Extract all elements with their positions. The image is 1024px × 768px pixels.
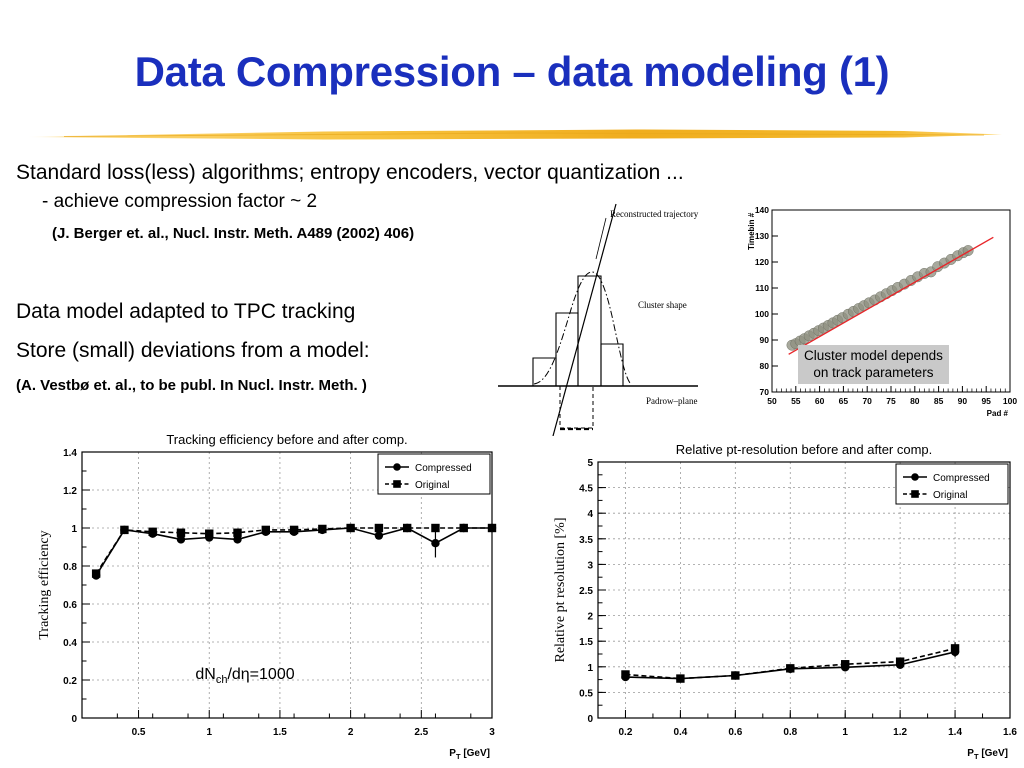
tracking-efficiency-legend: CompressedOriginal	[378, 454, 490, 494]
text-store-deviations: Store (small) deviations from a model:	[16, 339, 370, 363]
x-tick-label: 0.6	[728, 727, 742, 738]
tracking-efficiency-chart: Tracking efficiency before and after com…	[20, 424, 500, 768]
padtime-x-tick-label: 70	[862, 396, 872, 406]
x-tick-label: 2.5	[414, 727, 428, 738]
data-point	[177, 529, 185, 537]
x-tick-label: 0.2	[619, 727, 633, 738]
data-point	[233, 529, 241, 537]
data-point	[346, 524, 354, 532]
data-point	[460, 524, 468, 532]
data-point	[731, 671, 739, 679]
legend-label: Compressed	[933, 473, 990, 484]
data-point	[841, 660, 849, 668]
padtime-x-tick-label: 90	[958, 396, 968, 406]
y-tick-label: 1.5	[579, 637, 593, 648]
data-point	[318, 525, 326, 533]
data-point	[92, 569, 100, 577]
padtime-y-tick-label: 140	[755, 205, 769, 215]
callout-cluster-model: Cluster model depends on track parameter…	[798, 345, 949, 384]
tracking-efficiency-y-axis-title: Tracking efficiency	[37, 530, 52, 639]
pt-resolution-title: Relative pt-resolution before and after …	[676, 442, 933, 457]
cluster-shape-diagram: Reconstructed trajectory Cluster shape P…	[498, 196, 760, 436]
label-reconstructed-trajectory: Reconstructed trajectory	[610, 209, 699, 219]
data-point	[375, 531, 383, 539]
tracking-efficiency-title: Tracking efficiency before and after com…	[166, 432, 407, 447]
padtime-x-axis-title: Pad #	[987, 409, 1009, 418]
data-point	[676, 674, 684, 682]
label-cluster-shape: Cluster shape	[638, 300, 687, 310]
y-tick-label: 0.6	[63, 600, 77, 611]
callout-line-1: Cluster model depends	[804, 347, 943, 364]
y-tick-label: 3.5	[579, 535, 593, 546]
x-tick-label: 0.4	[673, 727, 687, 738]
padtime-y-tick-label: 130	[755, 231, 769, 241]
y-tick-label: 0	[71, 714, 77, 725]
legend-label: Compressed	[415, 463, 472, 474]
data-point	[786, 664, 794, 672]
data-point	[205, 530, 213, 538]
data-point	[621, 670, 629, 678]
data-point	[951, 644, 959, 652]
text-achieve-factor: - achieve compression factor ~ 2	[42, 191, 317, 213]
callout-line-2: on track parameters	[804, 364, 943, 381]
legend-label: Original	[933, 490, 967, 501]
y-tick-label: 5	[587, 458, 593, 469]
padtime-x-tick-label: 95	[981, 396, 991, 406]
x-tick-label: 2	[348, 727, 354, 738]
y-tick-label: 4	[587, 509, 593, 520]
legend-marker	[393, 480, 401, 488]
x-tick-label: 1.4	[948, 727, 962, 738]
page-title: Data Compression – data modeling (1)	[0, 48, 1024, 96]
citation-vestbo: (A. Vestbø et. al., to be publ. In Nucl.…	[16, 377, 367, 394]
data-point	[403, 524, 411, 532]
data-point	[896, 657, 904, 665]
padtime-y-tick-label: 120	[755, 257, 769, 267]
y-tick-label: 0	[587, 714, 593, 725]
padtime-y-tick-label: 80	[760, 361, 770, 371]
padtime-x-tick-label: 80	[910, 396, 920, 406]
legend-marker	[911, 490, 919, 498]
gold-divider	[24, 124, 1004, 146]
x-tick-label: 1.5	[273, 727, 287, 738]
padtime-x-tick-label: 50	[767, 396, 777, 406]
y-tick-label: 3	[587, 560, 593, 571]
y-tick-label: 2.5	[579, 586, 593, 597]
data-point	[431, 524, 439, 532]
y-tick-label: 0.5	[579, 688, 593, 699]
padtime-x-tick-label: 75	[886, 396, 896, 406]
pt-resolution-legend: CompressedOriginal	[896, 464, 1008, 504]
x-tick-label: 1	[842, 727, 848, 738]
data-point	[375, 524, 383, 532]
data-point	[488, 524, 496, 532]
x-tick-label: 1	[206, 727, 212, 738]
pt-resolution-y-axis-title: Relative pt resolution [%]	[553, 517, 568, 662]
pt-resolution-chart: Relative pt-resolution before and after …	[520, 436, 1024, 768]
data-point	[120, 526, 128, 534]
pt-resolution-x-axis-title: PT [GeV]	[967, 748, 1008, 761]
y-tick-label: 1.2	[63, 486, 77, 497]
padtime-x-tick-label: 60	[815, 396, 825, 406]
x-tick-label: 1.6	[1003, 727, 1017, 738]
y-tick-label: 0.4	[63, 638, 77, 649]
text-standard-algorithms: Standard loss(less) algorithms; entropy …	[16, 161, 684, 185]
y-tick-label: 0.2	[63, 676, 77, 687]
padtime-y-tick-label: 110	[755, 283, 769, 293]
padtime-y-axis-title: Timebin #	[747, 212, 756, 250]
padtime-x-tick-label: 85	[934, 396, 944, 406]
legend-label: Original	[415, 480, 449, 491]
data-point	[290, 526, 298, 534]
x-tick-label: 1.2	[893, 727, 907, 738]
citation-berger: (J. Berger et. al., Nucl. Instr. Meth. A…	[52, 225, 414, 242]
pad-timebin-chart: 7080901001101201301405055606570758085909…	[742, 200, 1022, 422]
padtime-y-tick-label: 100	[755, 309, 769, 319]
legend-marker	[393, 463, 401, 471]
legend-marker	[911, 473, 919, 481]
text-data-model-tpc: Data model adapted to TPC tracking	[16, 300, 355, 324]
padtime-x-tick-label: 100	[1003, 396, 1017, 406]
y-tick-label: 1.4	[63, 448, 77, 459]
label-padrow-plane: Padrow–plane	[646, 396, 698, 406]
y-tick-label: 0.8	[63, 562, 77, 573]
tracking-efficiency-x-axis-title: PT [GeV]	[449, 748, 490, 761]
pad-timebin-scatter-panel: 7080901001101201301405055606570758085909…	[742, 200, 1022, 422]
y-tick-label: 1	[587, 663, 593, 674]
padtime-x-tick-label: 65	[839, 396, 849, 406]
data-point	[431, 539, 439, 547]
padtime-y-tick-label: 90	[760, 335, 770, 345]
x-tick-label: 0.8	[783, 727, 797, 738]
data-point	[262, 526, 270, 534]
y-tick-label: 1	[71, 524, 77, 535]
data-point	[148, 528, 156, 536]
x-tick-label: 3	[489, 727, 495, 738]
y-tick-label: 4.5	[579, 484, 593, 495]
padtime-x-tick-label: 55	[791, 396, 801, 406]
x-tick-label: 0.5	[132, 727, 146, 738]
slide: Data Compression – data modeling (1) Sta…	[0, 0, 1024, 768]
y-tick-label: 2	[587, 612, 593, 623]
